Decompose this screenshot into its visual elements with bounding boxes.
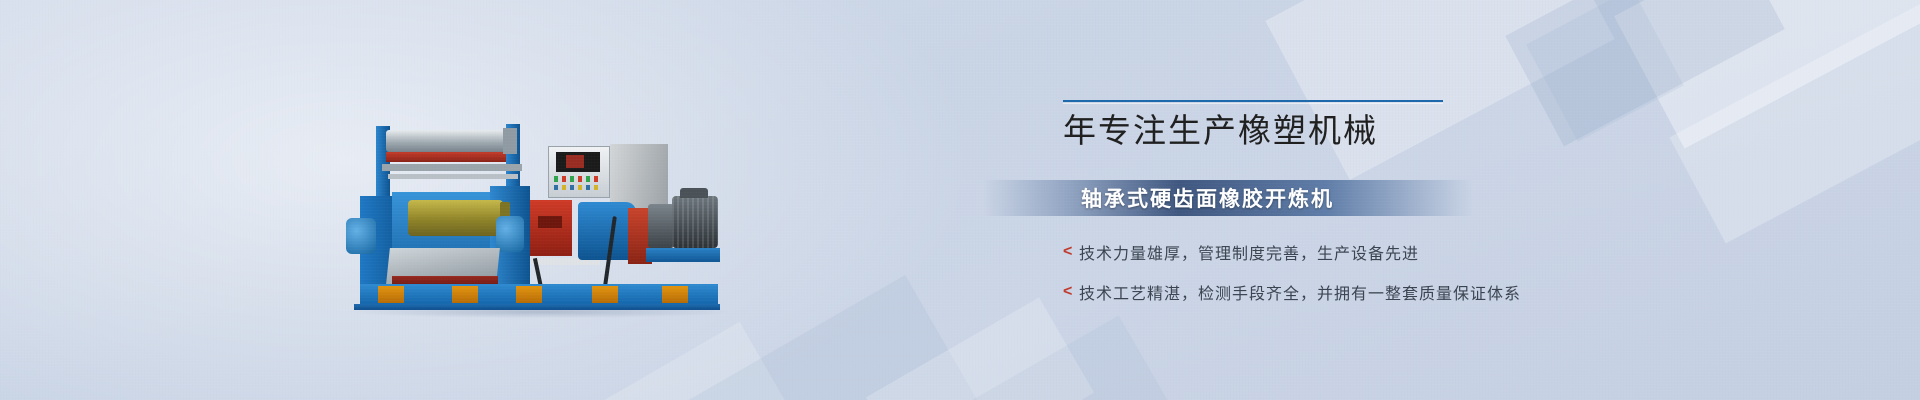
headline-divider (1063, 100, 1443, 102)
list-item: < 技术工艺精湛，检测手段齐全，并拥有一整套质量保证体系 (1063, 280, 1521, 304)
machine-crossbar-secondary (388, 174, 518, 179)
machine-motor-coupling (648, 204, 674, 248)
machine-foot (592, 286, 618, 303)
bg-shape-5 (1669, 0, 1920, 243)
chevron-left-icon: < (1063, 283, 1079, 301)
machine-motor-fins (672, 196, 718, 248)
machine-top-roller-band (386, 152, 506, 162)
list-item-label: 技术工艺精湛，检测手段齐全，并拥有一整套质量保证体系 (1079, 280, 1521, 304)
machine-main-roller (408, 200, 503, 236)
machine-top-roller (386, 130, 506, 152)
bg-shape-9 (971, 316, 1178, 400)
chevron-left-icon: < (1063, 243, 1079, 261)
banner-text-block: 年专注生产橡塑机械 轴承式硬齿面橡胶开炼机 < 技术力量雄厚，管理制度完善，生产… (1063, 100, 1483, 153)
machine-top-roller-end (503, 128, 517, 154)
machine-base-lip (354, 304, 720, 310)
bg-shape-7 (866, 297, 1094, 400)
bg-shape-2 (1505, 0, 1784, 146)
machine-foot (378, 286, 404, 303)
machine-foot (516, 286, 542, 303)
machine-foot (452, 286, 478, 303)
subtitle-bar: 轴承式硬齿面橡胶开炼机 (983, 180, 1473, 216)
list-item: < 技术力量雄厚，管理制度完善，生产设备先进 (1063, 240, 1521, 264)
bg-shape-1 (1614, 0, 1920, 149)
list-item-label: 技术力量雄厚，管理制度完善，生产设备先进 (1079, 240, 1419, 264)
machine-motor-base (646, 248, 720, 262)
machine-crossbar (382, 164, 522, 171)
machine-gearbox-lower (586, 226, 622, 260)
subtitle-text: 轴承式硬齿面橡胶开炼机 (1081, 183, 1334, 213)
bg-shape-8 (540, 322, 809, 400)
background-decoration (0, 0, 1920, 400)
machine-display-readout (566, 155, 584, 168)
machine-bearing-right (496, 216, 524, 252)
machine-foot (662, 286, 688, 303)
page-title: 年专注生产橡塑机械 (1063, 112, 1483, 153)
feature-list: < 技术力量雄厚，管理制度完善，生产设备先进 < 技术工艺精湛，检测手段齐全，并… (1063, 240, 1521, 320)
machine-button-row-bottom (554, 185, 602, 190)
machine-red-box-vent (538, 216, 562, 228)
product-image-rubber-mixing-mill (340, 108, 740, 320)
bg-shape-3 (1526, 0, 1684, 142)
headline-divider-highlight (1063, 103, 1443, 104)
machine-button-row-top (554, 176, 602, 182)
machine-red-control-box (530, 200, 572, 256)
hero-banner: 年专注生产橡塑机械 轴承式硬齿面橡胶开炼机 < 技术力量雄厚，管理制度完善，生产… (0, 0, 1920, 400)
machine-motor-terminal-box (680, 188, 708, 198)
machine-bearing-left (346, 218, 376, 254)
texture-overlay (0, 0, 1920, 400)
